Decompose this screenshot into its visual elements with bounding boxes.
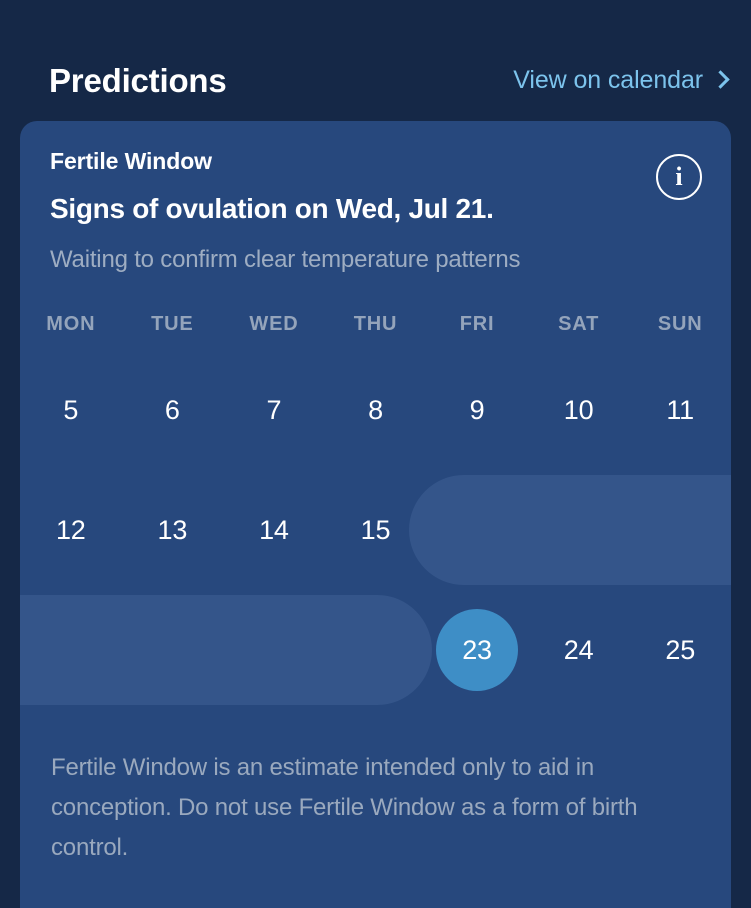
calendar-cell: 8 bbox=[325, 369, 427, 451]
day-cell[interactable]: 10 bbox=[538, 369, 620, 451]
day-cell[interactable]: 8 bbox=[334, 369, 416, 451]
calendar-week-row: 5 6 7 8 9 10 11 bbox=[20, 350, 731, 470]
day-cell[interactable]: 5 bbox=[30, 369, 112, 451]
calendar-week-row: 19 20 22 23 24 25 bbox=[20, 590, 731, 710]
fertile-window-card: Fertile Window Signs of ovulation on Wed… bbox=[20, 121, 731, 908]
card-eyebrow: Fertile Window bbox=[50, 150, 701, 173]
view-on-calendar-label: View on calendar bbox=[513, 68, 703, 93]
weekday-label-sun: SUN bbox=[629, 313, 731, 336]
calendar-cell: 14 bbox=[223, 489, 325, 571]
weekday-label-sat: SAT bbox=[528, 313, 630, 336]
day-cell[interactable]: 25 bbox=[639, 609, 721, 691]
calendar-cell: 24 bbox=[528, 609, 630, 691]
info-icon-glyph: i bbox=[675, 164, 682, 190]
weekday-label-wed: WED bbox=[223, 313, 325, 336]
calendar-week-row: 12 13 14 15 16 17 18 bbox=[20, 470, 731, 590]
calendar-cell: 10 bbox=[528, 369, 630, 451]
day-cell[interactable]: 14 bbox=[233, 489, 315, 571]
calendar-cell: 13 bbox=[122, 489, 224, 571]
weekday-label-thu: THU bbox=[325, 313, 427, 336]
chevron-right-icon bbox=[711, 70, 729, 88]
calendar-cell: 11 bbox=[629, 369, 731, 451]
fertile-window-band bbox=[409, 475, 731, 585]
calendar-cell: 25 bbox=[629, 609, 731, 691]
weekday-header-row: MON TUE WED THU FRI SAT SUN bbox=[20, 298, 731, 350]
info-icon[interactable]: i bbox=[656, 154, 702, 200]
weekday-label-fri: FRI bbox=[426, 313, 528, 336]
weekday-label-tue: TUE bbox=[122, 313, 224, 336]
calendar-cell: 12 bbox=[20, 489, 122, 571]
calendar-grid: MON TUE WED THU FRI SAT SUN 5 6 7 8 9 10… bbox=[20, 298, 731, 710]
day-cell[interactable]: 12 bbox=[30, 489, 112, 571]
day-cell-today[interactable]: 23 bbox=[436, 609, 518, 691]
day-cell[interactable]: 6 bbox=[131, 369, 213, 451]
disclaimer-text: Fertile Window is an estimate intended o… bbox=[20, 748, 731, 868]
card-headline: Signs of ovulation on Wed, Jul 21. bbox=[50, 195, 701, 223]
fertile-window-band bbox=[20, 595, 432, 705]
day-cell[interactable]: 24 bbox=[538, 609, 620, 691]
view-on-calendar-link[interactable]: View on calendar bbox=[513, 68, 727, 93]
day-cell[interactable]: 11 bbox=[639, 369, 721, 451]
calendar-cell: 6 bbox=[122, 369, 224, 451]
calendar-cell: 23 bbox=[426, 609, 528, 691]
day-cell[interactable]: 9 bbox=[436, 369, 518, 451]
day-cell[interactable]: 15 bbox=[334, 489, 416, 571]
calendar-cell: 9 bbox=[426, 369, 528, 451]
page-header: Predictions View on calendar bbox=[0, 52, 751, 108]
predictions-screen: Predictions View on calendar Fertile Win… bbox=[0, 0, 751, 908]
day-cell[interactable]: 13 bbox=[131, 489, 213, 571]
page-title: Predictions bbox=[49, 64, 227, 97]
calendar-cell: 7 bbox=[223, 369, 325, 451]
weekday-label-mon: MON bbox=[20, 313, 122, 336]
card-subtitle: Waiting to confirm clear temperature pat… bbox=[50, 248, 701, 272]
card-header: Fertile Window Signs of ovulation on Wed… bbox=[20, 121, 731, 272]
calendar-cell: 5 bbox=[20, 369, 122, 451]
day-cell[interactable]: 7 bbox=[233, 369, 315, 451]
